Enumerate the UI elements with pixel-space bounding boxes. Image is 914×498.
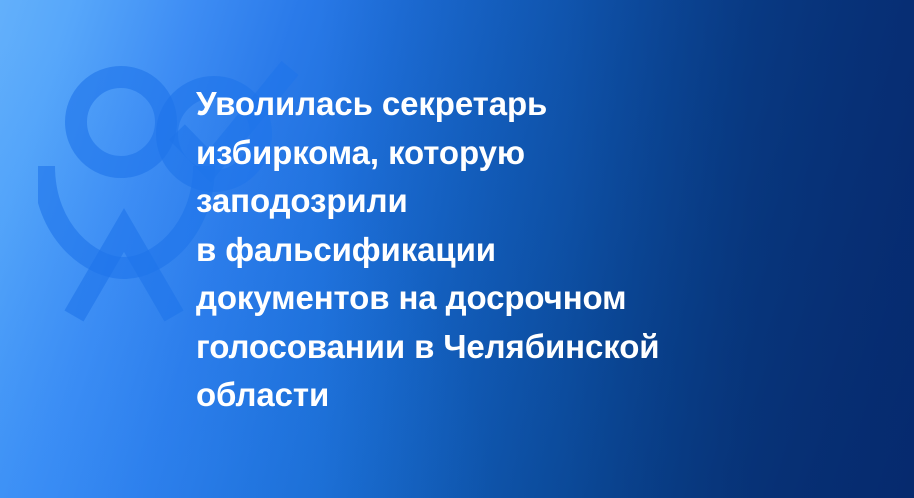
- headline: Уволилась секретарь избиркома, которую з…: [196, 80, 886, 420]
- headline-line: голосовании в Челябинской: [196, 323, 886, 372]
- headline-line: Уволилась секретарь: [196, 80, 886, 129]
- headline-line: области: [196, 371, 886, 420]
- headline-line: документов на досрочном: [196, 274, 886, 323]
- headline-line: избиркома, которую: [196, 129, 886, 178]
- headline-line: в фальсификации: [196, 226, 886, 275]
- news-card: Уволилась секретарь избиркома, которую з…: [0, 0, 914, 498]
- headline-line: заподозрили: [196, 177, 886, 226]
